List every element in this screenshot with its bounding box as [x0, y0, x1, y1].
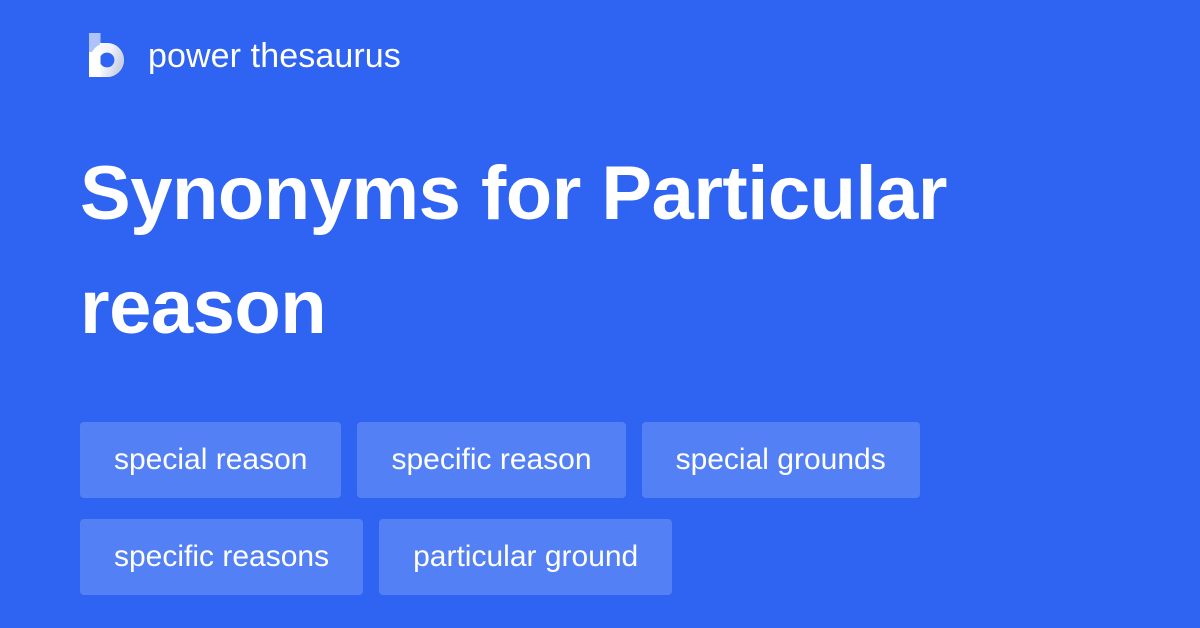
synonym-chip[interactable]: specific reasons [80, 519, 363, 595]
synonym-chip[interactable]: specific reason [357, 422, 625, 498]
synonym-chip[interactable]: particular ground [379, 519, 672, 595]
synonym-chip-label: specific reasons [114, 542, 329, 572]
brand-name: power thesaurus [148, 39, 401, 73]
page-title: Synonyms for Particular reason [80, 137, 1080, 365]
brand-lockup[interactable]: power thesaurus [80, 28, 401, 84]
synonym-chip[interactable]: special reason [80, 422, 341, 498]
synonym-chip-label: particular ground [413, 542, 638, 572]
synonym-chip-label: special reason [114, 445, 307, 475]
synonym-chip-label: special grounds [676, 445, 886, 475]
power-thesaurus-logo-icon [80, 30, 126, 82]
synonym-chip-list: special reason specific reason special g… [80, 422, 1120, 595]
synonym-chip-label: specific reason [391, 445, 591, 475]
synonym-chip[interactable]: special grounds [642, 422, 920, 498]
og-share-card: power thesaurus Synonyms for Particular … [0, 0, 1200, 628]
